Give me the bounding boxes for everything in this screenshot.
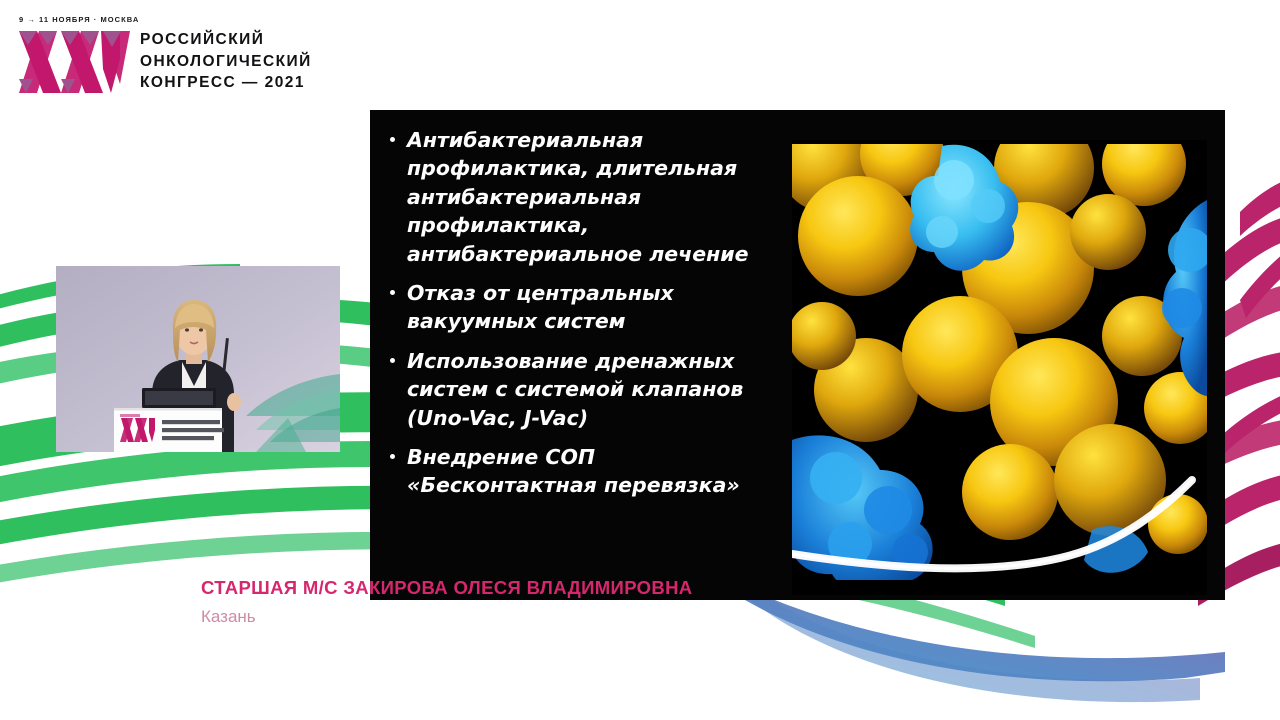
xxv-logo-mark xyxy=(17,29,132,95)
speaker-caption: СТАРШАЯ М/С ЗАКИРОВА ОЛЕСЯ ВЛАДИМИРОВНА … xyxy=(201,576,693,630)
congress-date-line: 9 → 11 НОЯБРЯ · МОСКВА xyxy=(19,15,139,24)
list-item: Внедрение СОП «Бесконтактная перевязка» xyxy=(387,443,787,500)
list-item: Использование дренажных систем с системо… xyxy=(387,347,787,432)
blue-gradient-wave xyxy=(745,596,1225,702)
speaker-name: СТАРШАЯ М/С ЗАКИРОВА ОЛЕСЯ ВЛАДИМИРОВНА xyxy=(201,576,693,600)
list-item: Отказ от центральных вакуумных систем xyxy=(387,279,787,336)
speaker-video-frame xyxy=(56,266,340,452)
slide-bullet-list: Антибактериальная профилактика, длительн… xyxy=(387,126,787,511)
congress-title-line1: РОССИЙСКИЙ xyxy=(140,29,312,51)
speaker-video-thumbnail[interactable] xyxy=(56,266,340,452)
congress-title-line2: ОНКОЛОГИЧЕСКИЙ xyxy=(140,51,312,73)
bacteria-micrograph-image xyxy=(792,140,1207,595)
congress-title-line3: КОНГРЕСС — 2021 xyxy=(140,72,312,94)
micrograph-graphic xyxy=(792,140,1207,595)
speaker-city: Казань xyxy=(201,604,693,630)
congress-title: РОССИЙСКИЙ ОНКОЛОГИЧЕСКИЙ КОНГРЕСС — 202… xyxy=(140,29,312,94)
congress-header: 9 → 11 НОЯБРЯ · МОСКВА РОССИЙСКИЙ ОНКОЛО… xyxy=(0,0,360,104)
presentation-slide: Антибактериальная профилактика, длительн… xyxy=(370,110,1225,600)
list-item: Антибактериальная профилактика, длительн… xyxy=(387,126,787,268)
